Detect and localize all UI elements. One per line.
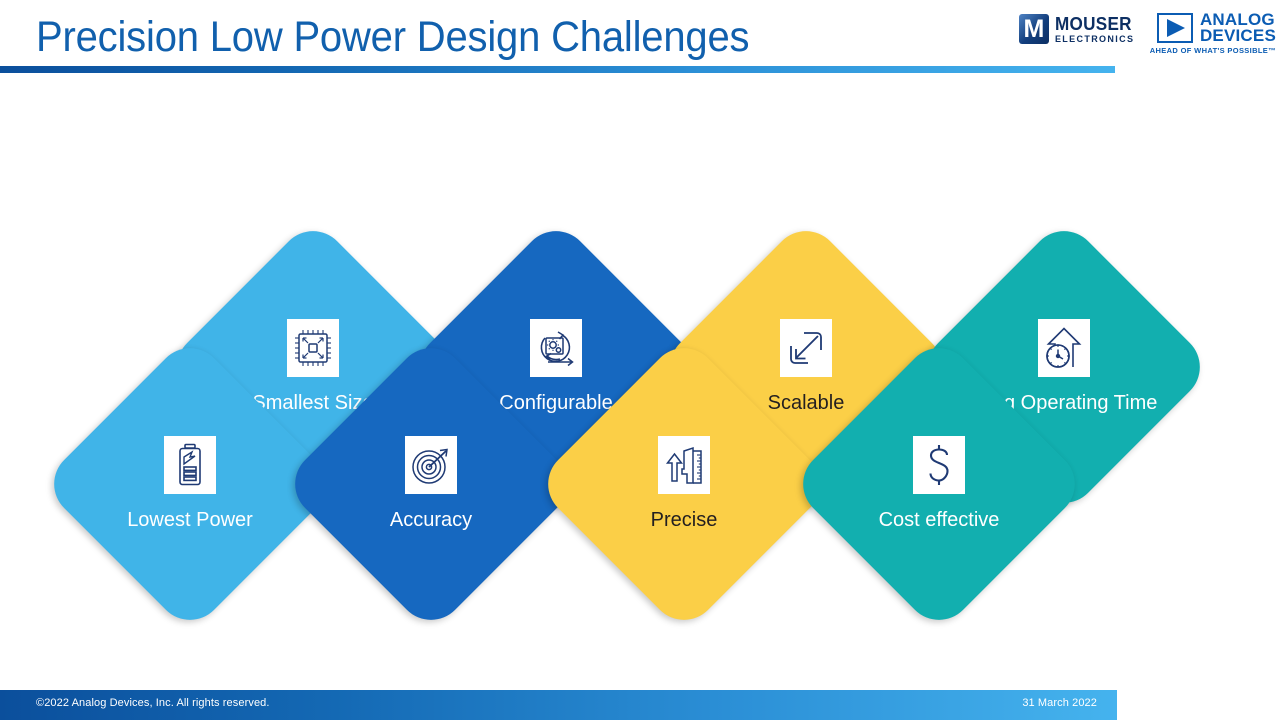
dollar-icon xyxy=(913,436,965,494)
analog-devices-lockup: ANALOG DEVICES xyxy=(1157,12,1276,43)
gears-refresh-icon xyxy=(530,319,582,377)
adi-wordmark: ANALOG DEVICES xyxy=(1200,12,1276,43)
chip-shrink-icon xyxy=(287,319,339,377)
header-divider xyxy=(0,66,1115,73)
diamond-label: Cost effective xyxy=(844,508,1034,533)
diamond-content: Accuracy xyxy=(325,378,537,590)
mouser-electronics-logo: M MOUSER ELECTRONICS xyxy=(1019,6,1136,44)
diamond-label: Precise xyxy=(589,508,779,533)
page-title: Precision Low Power Design Challenges xyxy=(36,12,749,62)
design-challenges-diagram: Lowest PowerSmallest SizeAccuracyConfigu… xyxy=(0,76,1280,676)
diamond-cost-effective[interactable]: Cost effective xyxy=(833,378,1045,590)
diamond-accuracy[interactable]: Accuracy xyxy=(325,378,537,590)
diamond-precise[interactable]: Precise xyxy=(578,378,790,590)
diamond-label: Lowest Power xyxy=(95,508,285,533)
adi-triangle-icon xyxy=(1157,13,1193,43)
mouser-wordmark: MOUSER ELECTRONICS xyxy=(1055,15,1136,44)
diamond-content: Precise xyxy=(578,378,790,590)
slide-header: Precision Low Power Design Challenges M … xyxy=(0,0,1280,76)
mouser-mark-letter: M xyxy=(1019,14,1049,44)
adi-line2: DEVICES xyxy=(1200,28,1276,44)
battery-icon xyxy=(164,436,216,494)
diamond-label: Accuracy xyxy=(336,508,526,533)
footer-copyright: ©2022 Analog Devices, Inc. All rights re… xyxy=(36,697,270,709)
target-arrow-icon xyxy=(405,436,457,494)
diamond-content: Lowest Power xyxy=(84,378,296,590)
clock-uparrow-icon xyxy=(1038,319,1090,377)
logo-bar: M MOUSER ELECTRONICS ANALOG DEVICES AHEA… xyxy=(1019,6,1276,62)
caliper-icon xyxy=(658,436,710,494)
mouser-name: MOUSER xyxy=(1055,15,1132,33)
analog-devices-logo: ANALOG DEVICES AHEAD OF WHAT'S POSSIBLE™ xyxy=(1150,6,1276,55)
diamond-lowest-power[interactable]: Lowest Power xyxy=(84,378,296,590)
slide-footer: ©2022 Analog Devices, Inc. All rights re… xyxy=(0,690,1117,720)
mouser-subtitle: ELECTRONICS xyxy=(1055,35,1136,44)
adi-tagline: AHEAD OF WHAT'S POSSIBLE™ xyxy=(1150,46,1276,55)
resize-arrow-icon xyxy=(780,319,832,377)
footer-date: 31 March 2022 xyxy=(1022,697,1097,709)
diamond-content: Cost effective xyxy=(833,378,1045,590)
mouser-m-icon: M xyxy=(1019,14,1049,44)
